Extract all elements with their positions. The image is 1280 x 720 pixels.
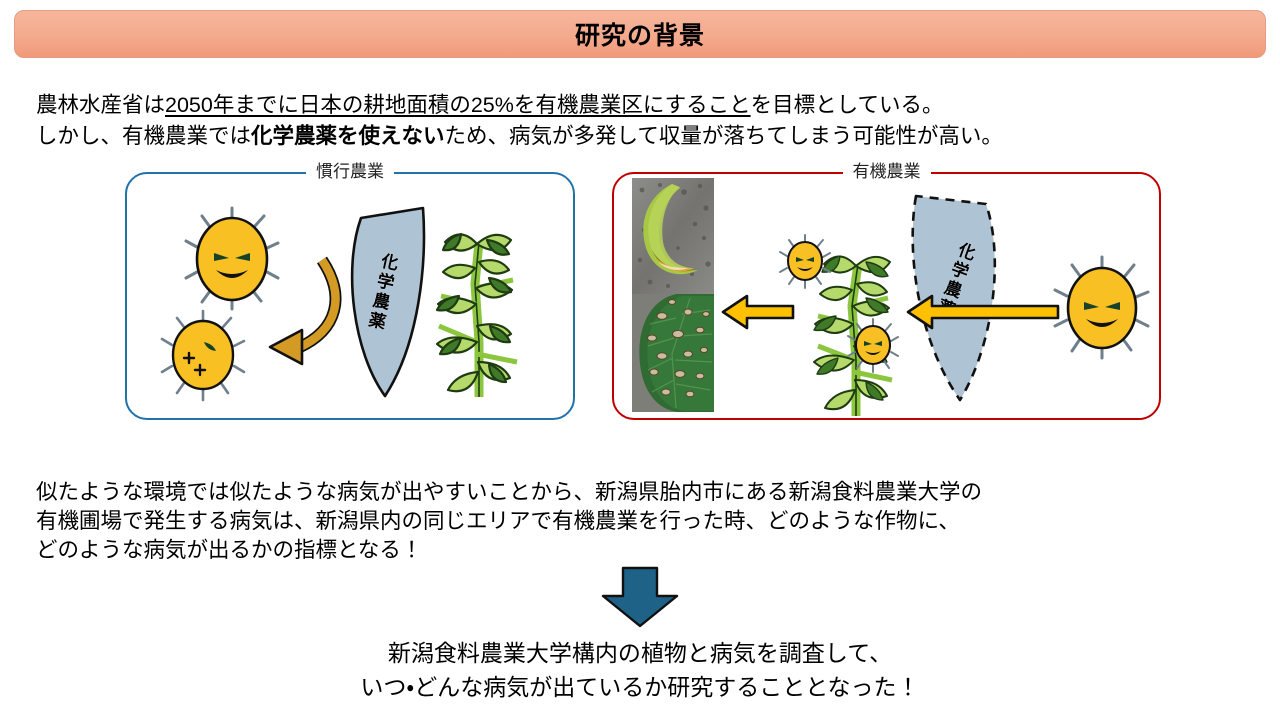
- middle-line-1: 似たような環境では似たような病気が出やすいことから、新潟県胎内市にある新潟食料農…: [36, 478, 1246, 507]
- conclusion-line-2: いつ・どんな病気が出ているか研究することとなった！: [0, 670, 1280, 704]
- intro-line-1: 農林水産省は2050年までに日本の耕地面積の25%を有機農業区にすることを目標と…: [36, 90, 1003, 121]
- germ-character-on-plant-lower: [850, 322, 896, 368]
- intro-line1-suffix: を目標としている。: [751, 93, 944, 117]
- middle-paragraph: 似たような環境では似たような病気が出やすいことから、新潟県胎内市にある新潟食料農…: [36, 478, 1246, 565]
- conclusion-text: 新潟食料農業大学構内の植物と病気を調査して、 いつ・どんな病気が出ているか研究す…: [0, 636, 1280, 704]
- germ-character-invading: [1056, 262, 1148, 354]
- slide-title-bar: 研究の背景: [14, 10, 1266, 58]
- intro-line2-prefix: しかし、有機農業では: [36, 124, 251, 148]
- slide-root: 研究の背景 農林水産省は2050年までに日本の耕地面積の25%を有機農業区にする…: [0, 0, 1280, 720]
- middle-line-3: どのような病気が出るかの指標となる！: [36, 536, 1246, 565]
- intro-line1-underlined: 2050年までに日本の耕地面積の25%を有機農業区にすること: [165, 93, 751, 117]
- panel-conventional-label: 慣行農業: [306, 159, 394, 185]
- panel-organic-agriculture: 有機農業: [612, 172, 1161, 420]
- intro-line2-suffix: ため、病気が多発して収量が落ちてしまう可能性が高い。: [445, 124, 1003, 148]
- intro-line2-bold: 化学農薬を使えない: [251, 124, 445, 148]
- down-arrow-icon: [585, 566, 695, 628]
- intro-line-2: しかし、有機農業では化学農薬を使えないため、病気が多発して収量が落ちてしまう可能…: [36, 121, 1003, 152]
- photo-diseased-pod: [632, 178, 714, 294]
- arrow-disease-outcome: [721, 292, 793, 332]
- conclusion-line-1: 新潟食料農業大学構内の植物と病気を調査して、: [0, 636, 1280, 670]
- panel-organic-label: 有機農業: [843, 159, 931, 185]
- germ-character-defeated: [162, 314, 244, 396]
- arrow-germ-penetrates: [906, 292, 1058, 332]
- intro-paragraph: 農林水産省は2050年までに日本の耕地面積の25%を有機農業区にすることを目標と…: [36, 90, 1003, 152]
- photo-spotted-leaf: [632, 294, 714, 412]
- germ-character-on-plant-upper: [782, 238, 828, 284]
- intro-line1-prefix: 農林水産省は: [36, 93, 165, 117]
- panel-conventional-agriculture: 慣行農業: [125, 172, 575, 420]
- middle-line-2: 有機圃場で発生する病気は、新潟県内の同じエリアで有機農業を行った時、どのような作…: [36, 507, 1246, 536]
- page-title: 研究の背景: [575, 16, 705, 52]
- plant-illustration-healthy: [417, 222, 552, 397]
